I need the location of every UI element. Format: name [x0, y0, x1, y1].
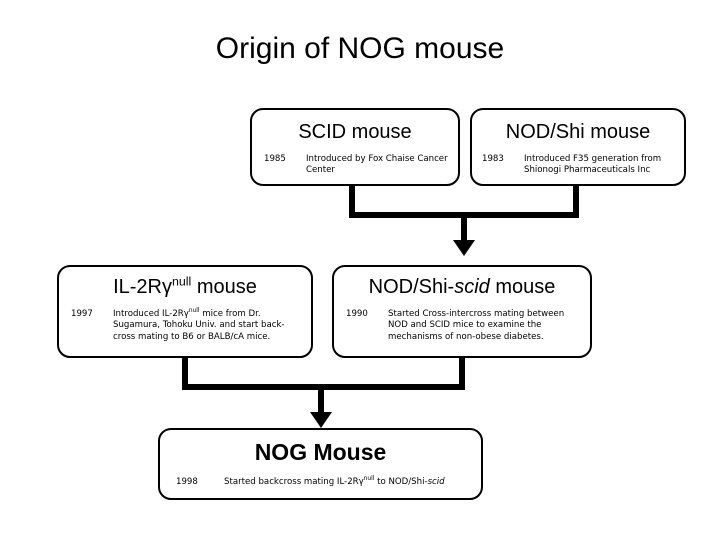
node-body-nodshi-mouse: 1983 Introduced F35 generation from Shio… — [482, 154, 680, 177]
page-title: Origin of NOG mouse — [0, 32, 720, 66]
node-description-scid-mouse: Introduced by Fox Chaise Cancer Center — [306, 154, 450, 177]
connector-line-vertical-stem — [318, 384, 324, 414]
slide-canvas: Origin of NOG mouse SCID mouse 1985 Intr… — [0, 0, 720, 540]
node-il2rgnull-mouse: IL-2Rγnull mouse 1997 Introduced IL-2Rγn… — [57, 265, 313, 358]
node-title-suffix: mouse — [490, 276, 556, 298]
arrow-down-icon — [310, 412, 332, 428]
node-title-il2rgnull-mouse: IL-2Rγnull mouse — [59, 275, 311, 299]
node-scid-mouse: SCID mouse 1985 Introduced by Fox Chaise… — [250, 108, 460, 186]
node-title-suffix: mouse — [191, 276, 257, 298]
node-description-italic: scid — [428, 477, 445, 487]
arrow-down-icon — [453, 240, 475, 256]
node-description-il2rgnull-mouse: Introduced IL-2Rγnull mice from Dr. Suga… — [113, 309, 303, 343]
node-year-nodshi-scid-mouse: 1990 — [346, 309, 388, 343]
node-title-nodshi-scid-mouse: NOD/Shi-scid mouse — [334, 275, 590, 299]
node-description-middle: to NOD/Shi- — [374, 477, 427, 487]
node-body-nodshi-scid-mouse: 1990 Started Cross-intercross mating bet… — [346, 309, 582, 343]
node-title-prefix: IL-2Rγ — [113, 276, 172, 298]
node-title-nodshi-mouse: NOD/Shi mouse — [472, 120, 684, 144]
node-title-superscript: null — [172, 274, 191, 288]
node-description-superscript: null — [189, 308, 200, 314]
node-body-il2rgnull-mouse: 1997 Introduced IL-2Rγnull mice from Dr.… — [71, 309, 303, 343]
node-description-nodshi-mouse: Introduced F35 generation from Shionogi … — [524, 154, 680, 177]
node-year-il2rgnull-mouse: 1997 — [71, 309, 113, 343]
node-description-superscript: null — [364, 476, 375, 482]
node-title-nog-mouse: NOG Mouse — [160, 440, 481, 464]
node-description-prefix: Started backcross mating IL-2Rγ — [224, 477, 364, 487]
node-body-scid-mouse: 1985 Introduced by Fox Chaise Cancer Cen… — [264, 154, 450, 177]
node-body-nog-mouse: 1998 Started backcross mating IL-2Rγnull… — [176, 477, 472, 488]
node-nodshi-scid-mouse: NOD/Shi-scid mouse 1990 Started Cross-in… — [332, 265, 592, 358]
node-year-nog-mouse: 1998 — [176, 477, 224, 488]
node-nodshi-mouse: NOD/Shi mouse 1983 Introduced F35 genera… — [470, 108, 686, 186]
connector-line-vertical-stem — [461, 212, 467, 242]
node-description-prefix: Introduced IL-2Rγ — [113, 309, 189, 319]
node-year-scid-mouse: 1985 — [264, 154, 306, 177]
node-year-nodshi-mouse: 1983 — [482, 154, 524, 177]
node-title-italic: scid — [454, 276, 490, 298]
node-title-scid-mouse: SCID mouse — [252, 120, 458, 144]
node-title-prefix: NOD/Shi- — [369, 276, 455, 298]
node-description-nodshi-scid-mouse: Started Cross-intercross mating between … — [388, 309, 582, 343]
node-description-nog-mouse: Started backcross mating IL-2Rγnull to N… — [224, 477, 472, 488]
node-nog-mouse: NOG Mouse 1998 Started backcross mating … — [158, 428, 483, 500]
